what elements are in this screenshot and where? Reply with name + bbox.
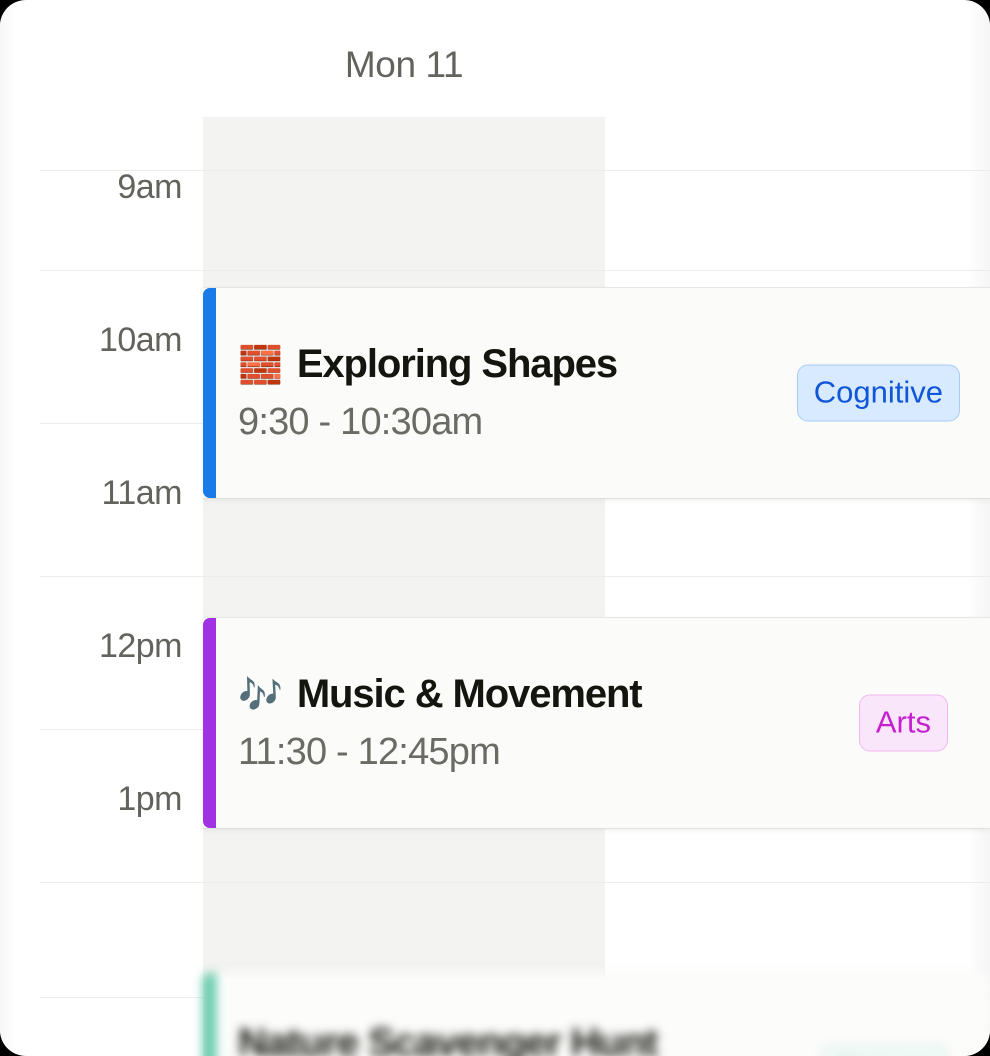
event-title: Exploring Shapes (297, 342, 617, 387)
hour-label: 11am (0, 474, 182, 513)
event-card[interactable]: Nature Scavenger Hunt1:00 - 2:00pmNature (203, 972, 990, 1056)
event-category-badge[interactable]: Arts (859, 695, 948, 752)
event-title: Music & Movement (297, 672, 642, 717)
music-notes-emoji: 🎶 (238, 677, 283, 713)
event-accent-bar (203, 973, 216, 1056)
hour-label: 9am (0, 168, 182, 207)
event-title: Nature Scavenger Hunt (238, 1021, 657, 1056)
calendar-grid: 9am10am11am12pm1pm 🧱Exploring Shapes9:30… (0, 117, 990, 1056)
event-accent-bar (203, 288, 216, 498)
hour-label: 12pm (0, 627, 182, 666)
event-card[interactable]: 🧱Exploring Shapes9:30 - 10:30amCognitive (203, 287, 990, 499)
hour-gridline (40, 170, 990, 171)
day-column-header[interactable]: Mon 11 (203, 44, 605, 86)
hour-label: 10am (0, 321, 182, 360)
event-category-badge[interactable]: Nature (821, 1044, 948, 1056)
hour-gridline (40, 882, 990, 883)
selected-day-column[interactable] (203, 117, 605, 1056)
calendar-panel: Mon 11 9am10am11am12pm1pm 🧱Exploring Sha… (0, 0, 990, 1056)
event-accent-bar (203, 618, 216, 828)
hour-gridline (40, 576, 990, 577)
brick-emoji: 🧱 (238, 347, 283, 383)
hour-label: 1pm (0, 780, 182, 819)
event-category-badge[interactable]: Cognitive (797, 365, 960, 422)
hour-gridline (40, 270, 990, 271)
event-card[interactable]: 🎶Music & Movement11:30 - 12:45pmArts (203, 617, 990, 829)
